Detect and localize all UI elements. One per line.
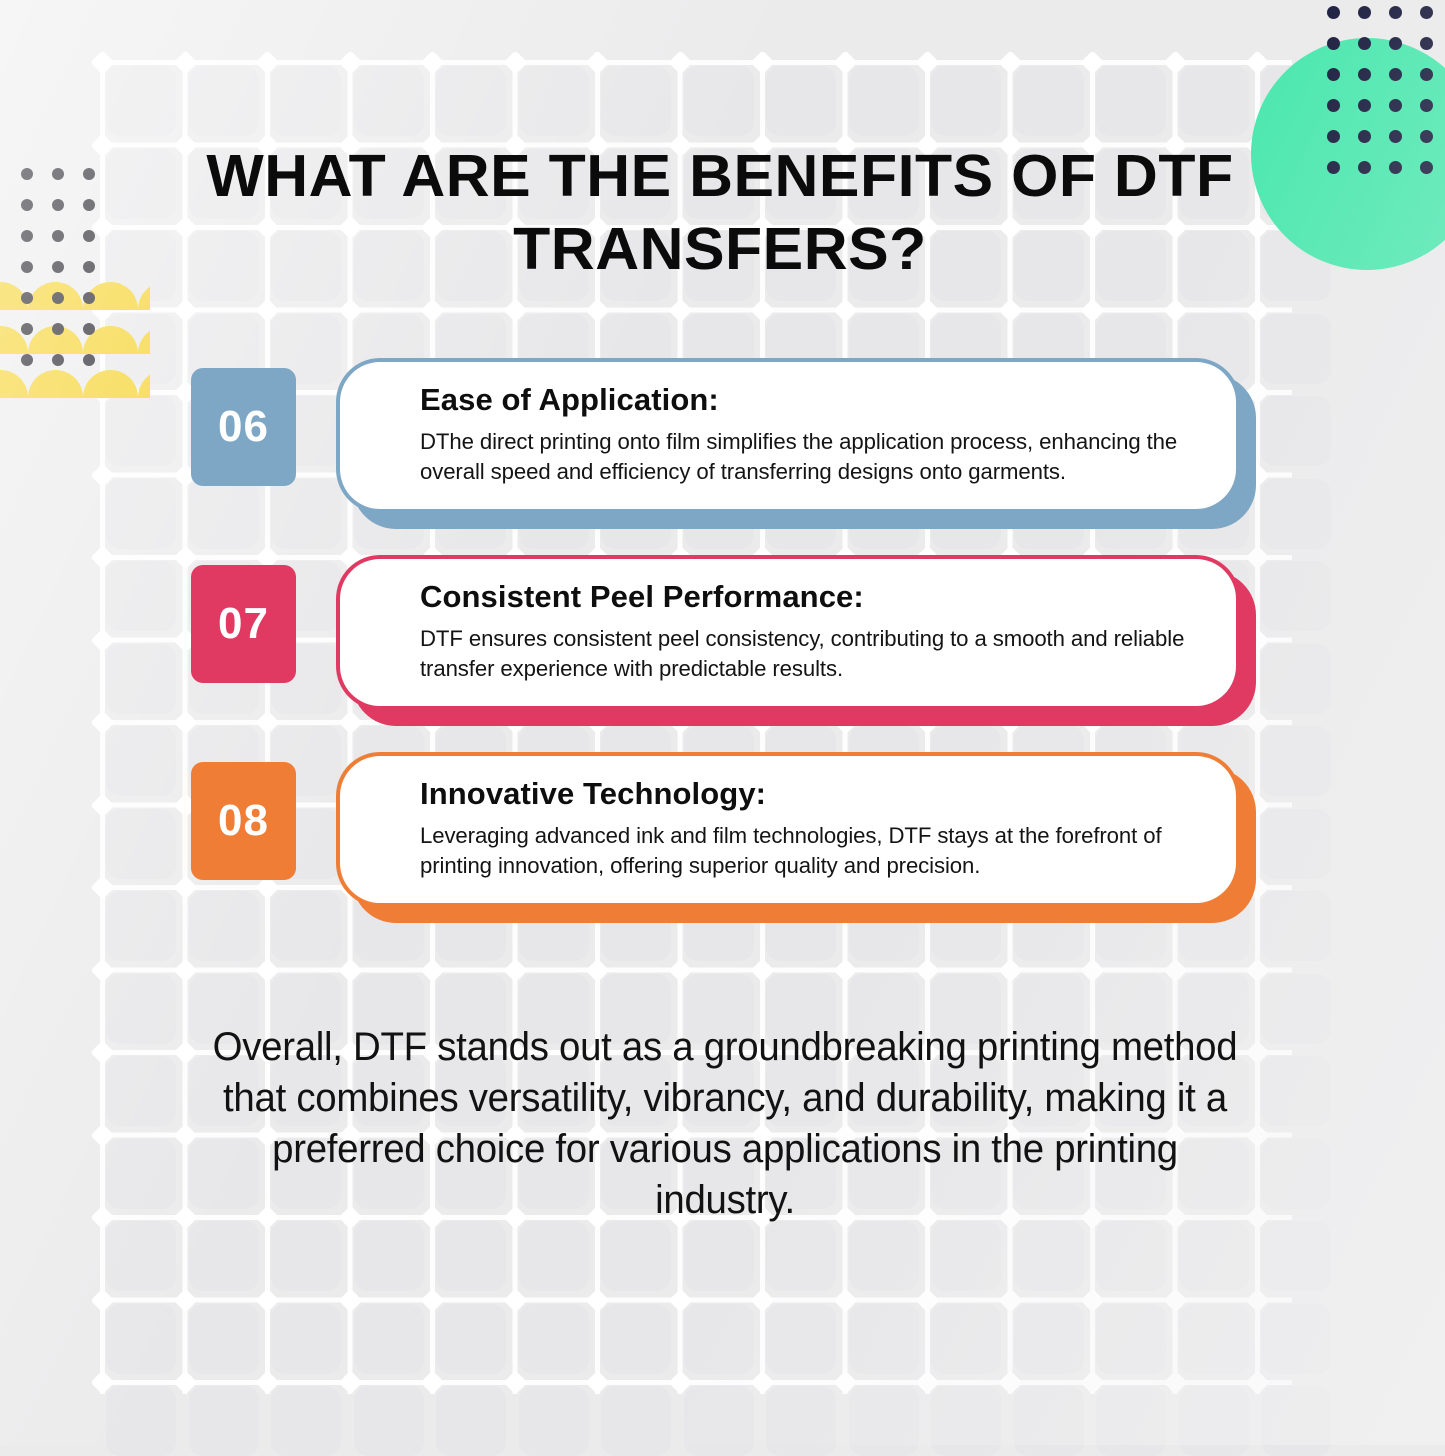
deco-dot [83, 168, 95, 180]
deco-dot [21, 230, 33, 242]
deco-dot [21, 199, 33, 211]
deco-dot [1420, 68, 1433, 81]
badge-number-08: 08 [191, 762, 296, 880]
deco-dot [1420, 161, 1433, 174]
deco-dot [1327, 68, 1340, 81]
badge-number-07: 07 [191, 565, 296, 683]
deco-dot [1420, 6, 1433, 19]
deco-dot [1389, 130, 1402, 143]
deco-dot [52, 168, 64, 180]
deco-dot [1420, 37, 1433, 50]
deco-dot [21, 261, 33, 273]
card-body-08: Leveraging advanced ink and film technol… [420, 821, 1190, 881]
deco-dot [21, 168, 33, 180]
deco-dot [21, 323, 33, 335]
deco-dot [52, 292, 64, 304]
card-body-07: DTF ensures consistent peel consistency,… [420, 624, 1190, 684]
deco-dot [83, 230, 95, 242]
card-heading-06: Ease of Application: [420, 382, 1202, 418]
deco-dot [1389, 68, 1402, 81]
deco-dot [1389, 37, 1402, 50]
deco-dot [83, 323, 95, 335]
deco-dot [1327, 99, 1340, 112]
benefit-row-06: 06 Ease of Application: DThe direct prin… [0, 350, 1445, 535]
deco-dot [21, 292, 33, 304]
deco-dot [52, 230, 64, 242]
deco-dot [52, 261, 64, 273]
deco-dot [52, 199, 64, 211]
deco-dot [83, 199, 95, 211]
deco-dot [1358, 130, 1371, 143]
deco-dome [138, 282, 150, 310]
card-heading-08: Innovative Technology: [420, 776, 1202, 812]
deco-dot [83, 292, 95, 304]
deco-dot [1358, 99, 1371, 112]
deco-dot [1389, 6, 1402, 19]
deco-dot [1420, 99, 1433, 112]
benefit-card-07[interactable]: Consistent Peel Performance: DTF ensures… [336, 555, 1240, 710]
deco-dot [1358, 37, 1371, 50]
closing-paragraph: Overall, DTF stands out as a groundbreak… [202, 1022, 1248, 1226]
deco-dot [1327, 37, 1340, 50]
page-title: WHAT ARE THE BENEFITS OF DTF TRANSFERS? [162, 140, 1279, 286]
benefit-row-07: 07 Consistent Peel Performance: DTF ensu… [0, 547, 1445, 732]
mint-circle-decoration [1251, 38, 1445, 270]
badge-number-06: 06 [191, 368, 296, 486]
card-heading-07: Consistent Peel Performance: [420, 579, 1202, 615]
deco-dot [1327, 6, 1340, 19]
benefit-card-06[interactable]: Ease of Application: DThe direct printin… [336, 358, 1240, 513]
deco-dot [52, 323, 64, 335]
benefit-row-08: 08 Innovative Technology: Leveraging adv… [0, 744, 1445, 929]
deco-dot [1389, 161, 1402, 174]
deco-dot [1327, 161, 1340, 174]
deco-dot [1358, 68, 1371, 81]
deco-dot [1358, 6, 1371, 19]
benefit-card-08[interactable]: Innovative Technology: Leveraging advanc… [336, 752, 1240, 907]
deco-dot [1420, 130, 1433, 143]
deco-dot [1389, 99, 1402, 112]
deco-dot [83, 261, 95, 273]
card-body-06: DThe direct printing onto film simplifie… [420, 427, 1190, 487]
deco-dot [1358, 161, 1371, 174]
deco-dot [1327, 130, 1340, 143]
